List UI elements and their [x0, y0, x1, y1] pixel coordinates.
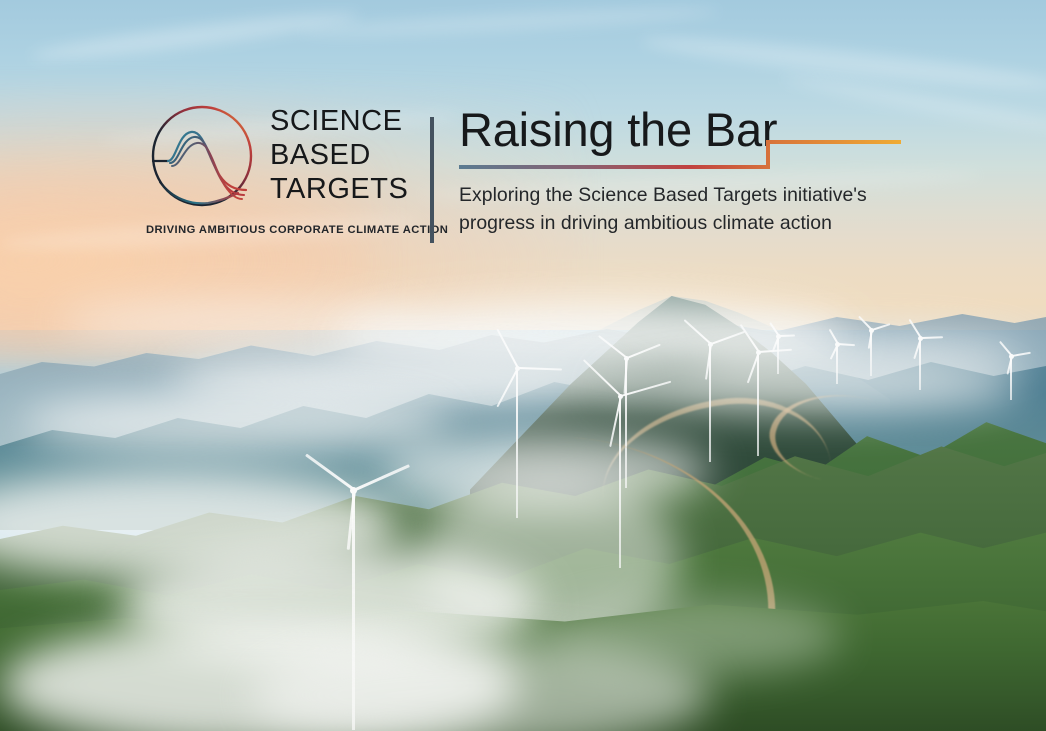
wind-turbine: [903, 338, 937, 390]
wind-turbine: [856, 330, 886, 376]
wind-turbine: [996, 356, 1026, 400]
fog-bank: [600, 360, 1020, 414]
wind-turbine: [683, 344, 737, 462]
turbine-hub: [756, 350, 761, 355]
sbti-logo-lockup: SCIENCE BASED TARGETS DRIVING AMBITIOUS …: [146, 100, 416, 236]
turbine-mast: [836, 344, 838, 384]
turbine-hub: [1009, 354, 1014, 359]
turbine-hub: [835, 342, 840, 347]
cover-subtitle: Exploring the Science Based Targets init…: [459, 182, 867, 237]
wind-turbine: [824, 344, 850, 384]
cover-header: SCIENCE BASED TARGETS DRIVING AMBITIOUS …: [0, 0, 1046, 270]
header-divider: [430, 117, 434, 243]
subtitle-line-2: progress in driving ambitious climate ac…: [459, 210, 867, 238]
sbti-wordmark: SCIENCE BASED TARGETS: [270, 105, 408, 207]
report-cover-page: SCIENCE BASED TARGETS DRIVING AMBITIOUS …: [0, 0, 1046, 731]
turbine-hub: [618, 394, 623, 399]
wordmark-line-targets: TARGETS: [270, 173, 408, 207]
turbine-blade: [518, 367, 562, 371]
turbine-hub: [776, 334, 781, 339]
wordmark-line-science: SCIENCE: [270, 105, 408, 139]
sbti-tagline: DRIVING AMBITIOUS CORPORATE CLIMATE ACTI…: [146, 224, 416, 236]
turbine-hub: [918, 336, 923, 341]
science-based-targets-circle-icon: [146, 100, 258, 212]
subtitle-line-1: Exploring the Science Based Targets init…: [459, 182, 867, 210]
turbine-mast: [757, 352, 759, 456]
turbine-hub: [624, 356, 629, 361]
wordmark-line-based: BASED: [270, 139, 408, 173]
turbine-hub: [708, 342, 713, 347]
turbine-hub: [869, 328, 874, 333]
title-underline-rule: [459, 139, 901, 171]
turbine-hub: [515, 366, 520, 371]
wind-turbine: [734, 352, 782, 456]
fog-bank: [20, 392, 450, 454]
turbine-blade: [838, 343, 855, 346]
